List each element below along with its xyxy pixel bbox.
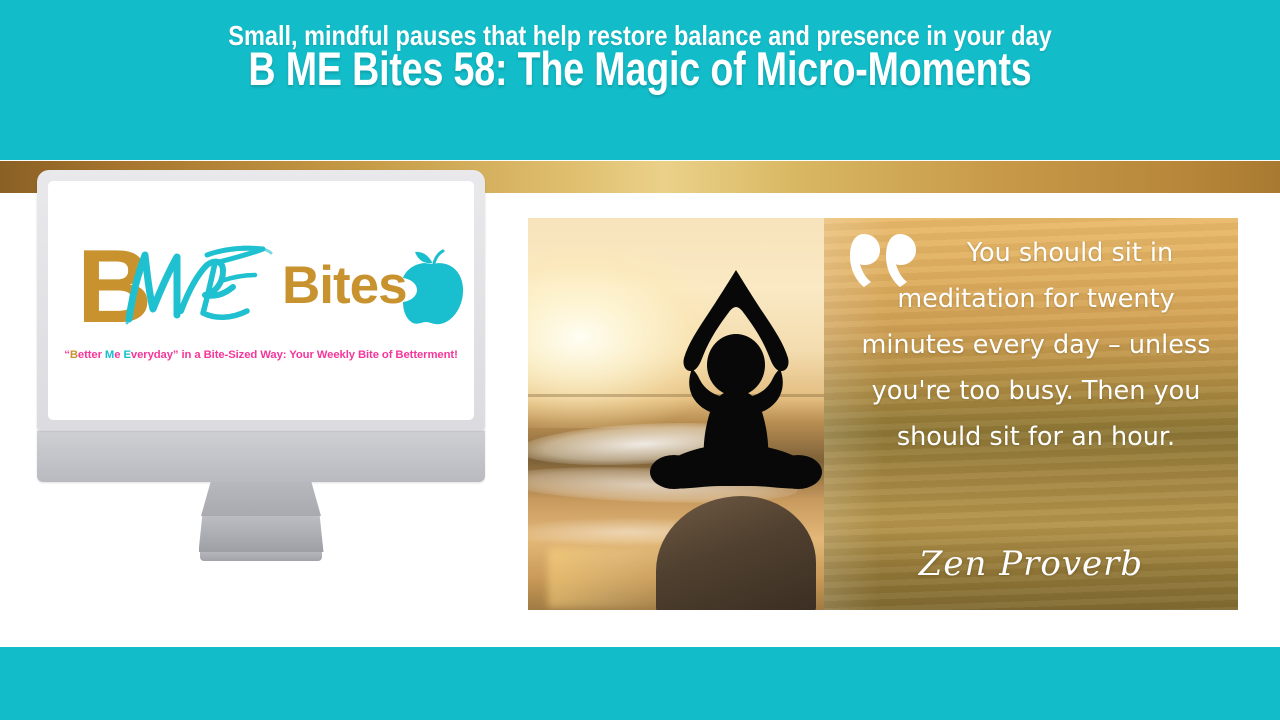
logo-tagline: “Better Me Everyday” in a Bite-Sized Way… [64, 349, 457, 361]
logo-word-bites: Bites [282, 259, 407, 312]
tagline-rest: veryday” in a Bite-Sized Way: Your Weekl… [131, 349, 458, 361]
sunset-ocean-photo [528, 218, 824, 610]
rock [656, 496, 816, 610]
monitor-screen: B [48, 181, 474, 420]
desktop-monitor: B [37, 170, 485, 561]
logo-letter-b: B [77, 235, 152, 339]
tagline-m: M [105, 349, 114, 361]
quote-author: Zen Proverb [824, 544, 1238, 584]
quote-text: You should sit in meditation for twenty … [850, 230, 1222, 460]
monitor-neck-lower [199, 516, 324, 552]
quote-text-panel: You should sit in meditation for twenty … [824, 218, 1238, 610]
tagline-b: B [70, 349, 78, 361]
footer-banner [0, 647, 1280, 720]
monitor-neck-upper [201, 482, 321, 516]
monitor-bezel: B [37, 170, 485, 430]
logo-wordmark: B [65, 241, 465, 337]
apple-bite-icon [398, 246, 468, 328]
meditation-silhouette-icon [648, 266, 824, 512]
monitor-chin [37, 430, 485, 482]
monitor-foot [200, 552, 322, 561]
quote-card: You should sit in meditation for twenty … [528, 218, 1238, 610]
slide-canvas: B ME Bites 58: The Magic of Micro-Moment… [0, 0, 1280, 720]
brand-logo: B [48, 181, 474, 420]
tagline-etter: etter [78, 349, 105, 361]
footer-subtitle: Small, mindful pauses that help restore … [102, 20, 1177, 52]
tagline-e: E [123, 349, 130, 361]
